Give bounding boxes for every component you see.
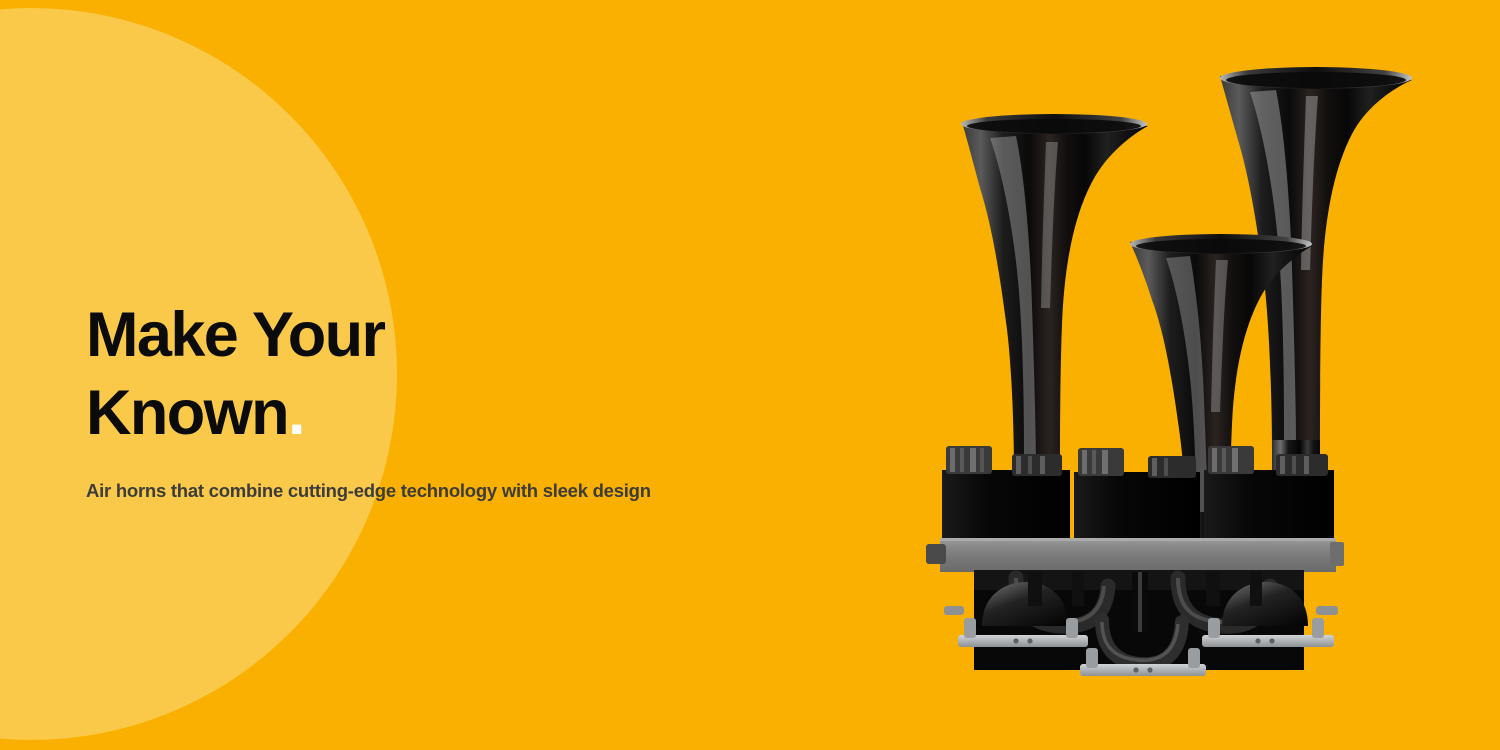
headline-period: .	[288, 378, 304, 448]
mounting-crossbar	[926, 538, 1344, 572]
hero-banner: Make YourKnown. Air horns that combine c…	[0, 0, 1500, 750]
hero-copy-block: Make YourKnown. Air horns that combine c…	[86, 296, 786, 502]
page-title: Make YourKnown.	[86, 296, 786, 452]
hero-subtitle: Air horns that combine cutting-edge tech…	[86, 480, 786, 502]
headline-line-2: Known	[86, 378, 288, 448]
horn-left	[961, 114, 1148, 496]
product-image-triple-air-horn	[920, 30, 1460, 710]
headline-line-1: Make Your	[86, 300, 384, 370]
manifold-body	[944, 570, 1338, 676]
